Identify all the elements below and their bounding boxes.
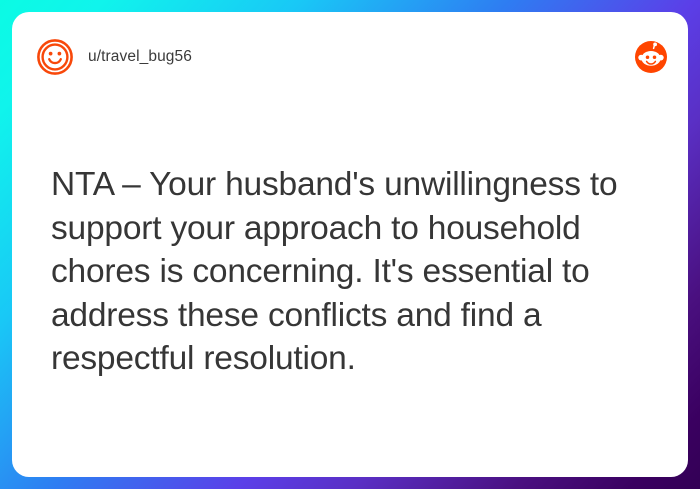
gradient-background: u/travel_bug56 (0, 0, 700, 489)
reddit-snoo-icon[interactable] (631, 37, 671, 77)
username-label: u/travel_bug56 (88, 38, 192, 76)
card-header: u/travel_bug56 (12, 12, 688, 100)
smiley-face-icon (36, 38, 74, 76)
quote-body-text: NTA – Your husband's unwillingness to su… (51, 163, 666, 381)
quote-card: u/travel_bug56 (12, 12, 688, 477)
